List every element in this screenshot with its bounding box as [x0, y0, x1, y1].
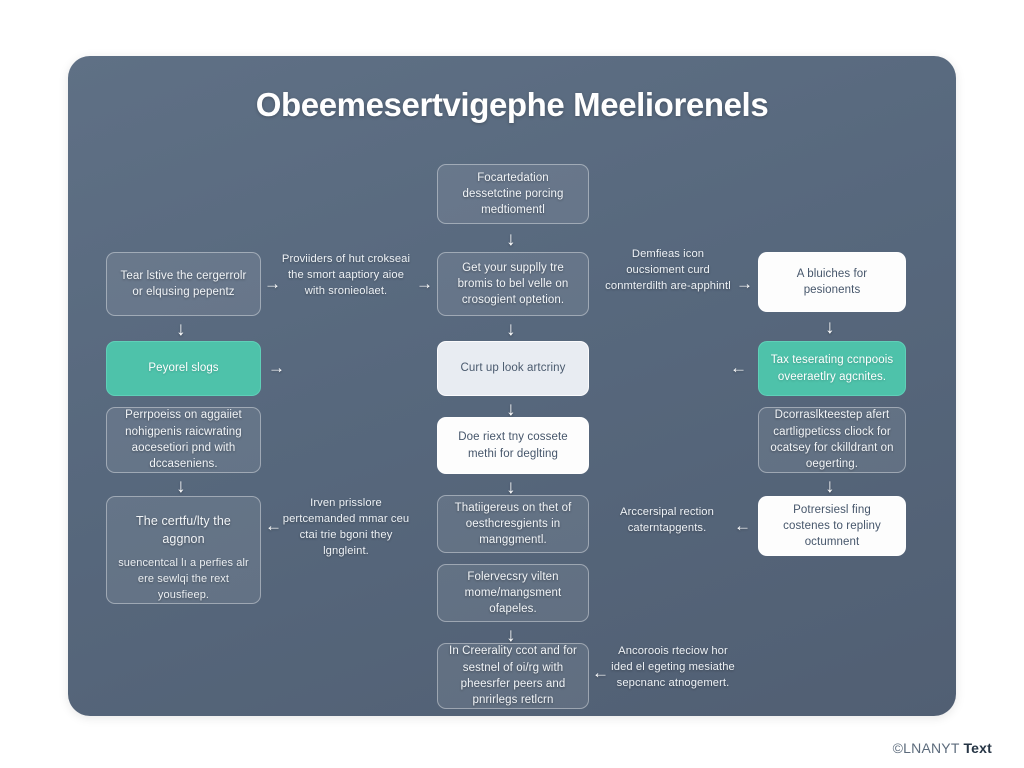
arrow-left-icon: ← — [730, 359, 747, 376]
arrow-left-icon: ← — [265, 517, 282, 534]
node-left-2[interactable]: Peyorel slogs — [106, 341, 261, 396]
node-middle-2[interactable]: Get your supplly tre bromis to bel velle… — [437, 252, 589, 316]
node-middle-4[interactable]: Doe riext tny cossete methi for deglting — [437, 417, 589, 474]
arrow-down-icon: ↓ — [825, 477, 835, 496]
connector-caption-1: Proviiders of hut crokseai the smort aap… — [281, 252, 411, 300]
node-middle-6[interactable]: Folervecsry vilten mome/mangsment ofapel… — [437, 564, 589, 622]
arrow-right-icon: → — [736, 275, 753, 292]
node-left-3[interactable]: Perrpoeiss on aggaiiet nohigpenis raicwr… — [106, 407, 261, 473]
arrow-down-icon: ↓ — [506, 230, 516, 249]
connector-caption-2: Demfieas icon oucsioment curd conmterdil… — [602, 247, 734, 295]
diagram-canvas: Obeemesertvigephe Meeliorenels Focarteda… — [0, 0, 1024, 768]
arrow-right-icon: → — [268, 359, 285, 376]
connector-caption-5: Ancoroois rteciow hor ided el egeting me… — [608, 644, 738, 692]
page-title: Obeemesertvigephe Meeliorenels — [68, 86, 956, 124]
node-left-4-subtext: suencentcal lı a perfies alr ere sewlqi … — [117, 556, 250, 604]
connector-caption-3: Irven prisslore pertcemanded mmar ceu ct… — [281, 496, 411, 560]
node-middle-5[interactable]: Thatiigereus on thet of oesthcresgients … — [437, 495, 589, 553]
arrow-left-icon: ← — [734, 517, 751, 534]
node-left-1[interactable]: Tear lstive the cergerrolr or elqusing p… — [106, 252, 261, 316]
connector-caption-4: Arccersipal rection caterntapgents. — [602, 505, 732, 537]
footer-bold: Text — [963, 740, 992, 756]
arrow-down-icon: ↓ — [825, 318, 835, 337]
node-left-4-headline: The certfu/lty the aggnon — [117, 513, 250, 548]
node-right-1[interactable]: A bluiches for pesionents — [758, 252, 906, 312]
arrow-right-icon: → — [264, 275, 281, 292]
footer-watermark: ©LNANYT Text — [893, 740, 992, 756]
arrow-down-icon: ↓ — [176, 320, 186, 339]
arrow-left-icon: ← — [592, 664, 609, 681]
arrow-down-icon: ↓ — [506, 320, 516, 339]
node-middle-3[interactable]: Curt up look artcriny — [437, 341, 589, 396]
arrow-right-icon: → — [416, 275, 433, 292]
node-right-3[interactable]: Dcorraslkteestep afert cartligpeticss cl… — [758, 407, 906, 473]
footer-mark: ©LNANYT — [893, 740, 960, 756]
arrow-down-icon: ↓ — [176, 477, 186, 496]
node-right-4[interactable]: Potrersiesl fing costenes to repliny oct… — [758, 496, 906, 556]
node-middle-7[interactable]: In Creerality ccot and for sestnel of oi… — [437, 643, 589, 709]
diagram-panel: Obeemesertvigephe Meeliorenels Focarteda… — [68, 56, 956, 716]
node-middle-1[interactable]: Focartedation dessetctine porcing medtio… — [437, 164, 589, 224]
node-right-2[interactable]: Tax teserating ccnpoois oveeraetlry agcn… — [758, 341, 906, 396]
node-left-4[interactable]: The certfu/lty the aggnon suencentcal lı… — [106, 496, 261, 604]
